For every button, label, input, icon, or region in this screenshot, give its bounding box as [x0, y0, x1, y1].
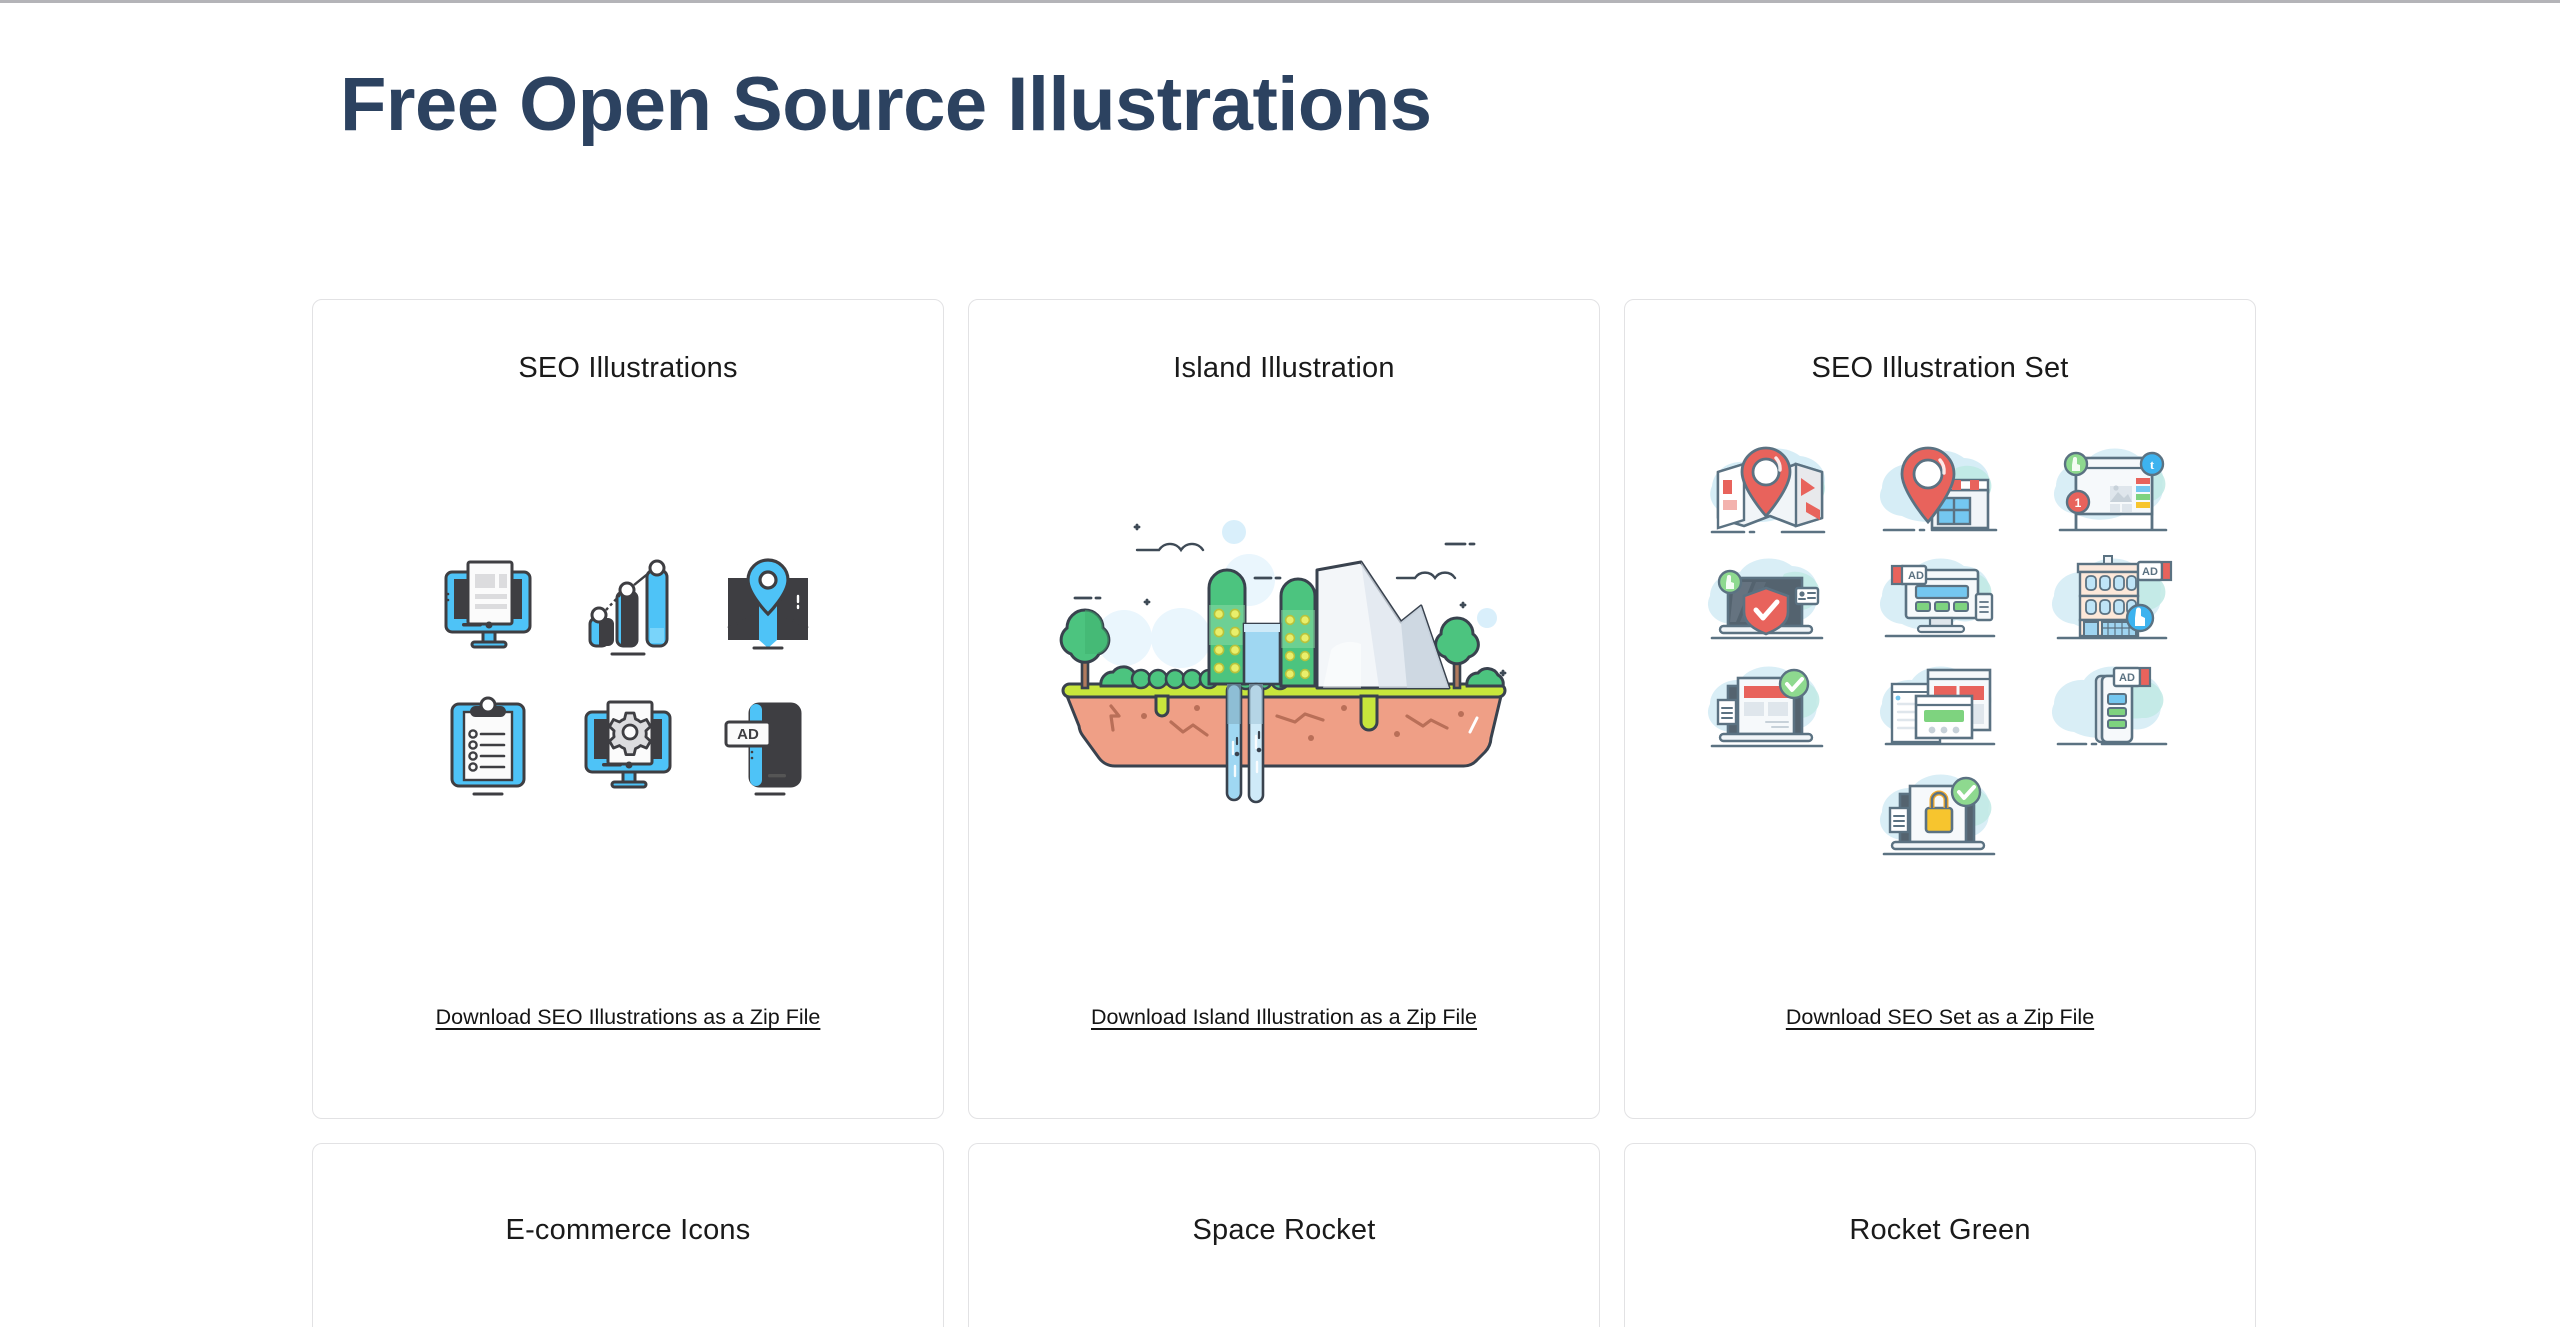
page-root: Free Open Source Illustrations SEO Illus…	[0, 61, 2560, 1327]
card-title: SEO Illustration Set	[1811, 352, 2068, 385]
billboard-ratings-icon: 1 t	[2026, 436, 2198, 544]
map-pin-icon	[703, 541, 833, 671]
social-badge-label: t	[2150, 457, 2155, 472]
desktop-ad-banner-icon: AD	[1854, 544, 2026, 652]
seo-icon-grid: AD	[423, 541, 833, 811]
monitor-gear-icon	[563, 681, 693, 811]
illustration-card-grid: SEO Illustrations	[312, 299, 2256, 1327]
laptop-shield-secure-icon	[1682, 544, 1854, 652]
card-seo-illustration-set[interactable]: SEO Illustration Set	[1624, 299, 2256, 1119]
building-ad-sign-icon: AD	[2026, 544, 2198, 652]
card-title: E-commerce Icons	[506, 1214, 751, 1247]
download-seo-set-link[interactable]: Download SEO Set as a Zip File	[1786, 1005, 2094, 1030]
rank-badge-label: 1	[2075, 496, 2082, 510]
download-seo-illustrations-link[interactable]: Download SEO Illustrations as a Zip File	[436, 1005, 821, 1030]
ad-label: AD	[737, 726, 759, 743]
svg-text:AD: AD	[2142, 566, 2158, 578]
svg-text:AD: AD	[2119, 672, 2135, 684]
laptop-lock-secure-icon	[1854, 760, 2026, 868]
card-artwork: AD	[313, 385, 943, 1005]
card-rocket-green[interactable]: Rocket Green	[1624, 1143, 2256, 1327]
floating-island-illustration	[1049, 510, 1519, 840]
download-island-illustration-link[interactable]: Download Island Illustration as a Zip Fi…	[1091, 1005, 1477, 1030]
card-island-illustration[interactable]: Island Illustration	[968, 299, 1600, 1119]
card-artwork: 1 t	[1625, 385, 2255, 1005]
card-seo-illustrations[interactable]: SEO Illustrations	[312, 299, 944, 1119]
card-space-rocket[interactable]: Space Rocket	[968, 1143, 1600, 1327]
page-title: Free Open Source Illustrations	[340, 61, 2560, 148]
card-title: SEO Illustrations	[518, 352, 737, 385]
ad-tag-label: AD	[1908, 570, 1924, 582]
seo-set-grid: 1 t	[1682, 436, 2198, 868]
laptop-approved-page-icon	[1682, 652, 1854, 760]
map-pin-storefront-icon	[1854, 436, 2026, 544]
card-ecommerce-icons[interactable]: E-commerce Icons	[312, 1143, 944, 1327]
card-artwork	[969, 385, 1599, 1005]
mobile-ad-tag-icon: AD	[2026, 652, 2198, 760]
phone-ad-icon: AD	[703, 681, 833, 811]
bar-chart-icon	[563, 541, 693, 671]
card-title: Island Illustration	[1173, 352, 1394, 385]
card-title: Rocket Green	[1849, 1214, 2030, 1247]
clipboard-checklist-icon	[423, 681, 553, 811]
browser-windows-stack-icon	[1854, 652, 2026, 760]
card-title: Space Rocket	[1193, 1214, 1376, 1247]
monitor-document-icon	[423, 541, 553, 671]
map-pin-folded-map-icon	[1682, 436, 1854, 544]
